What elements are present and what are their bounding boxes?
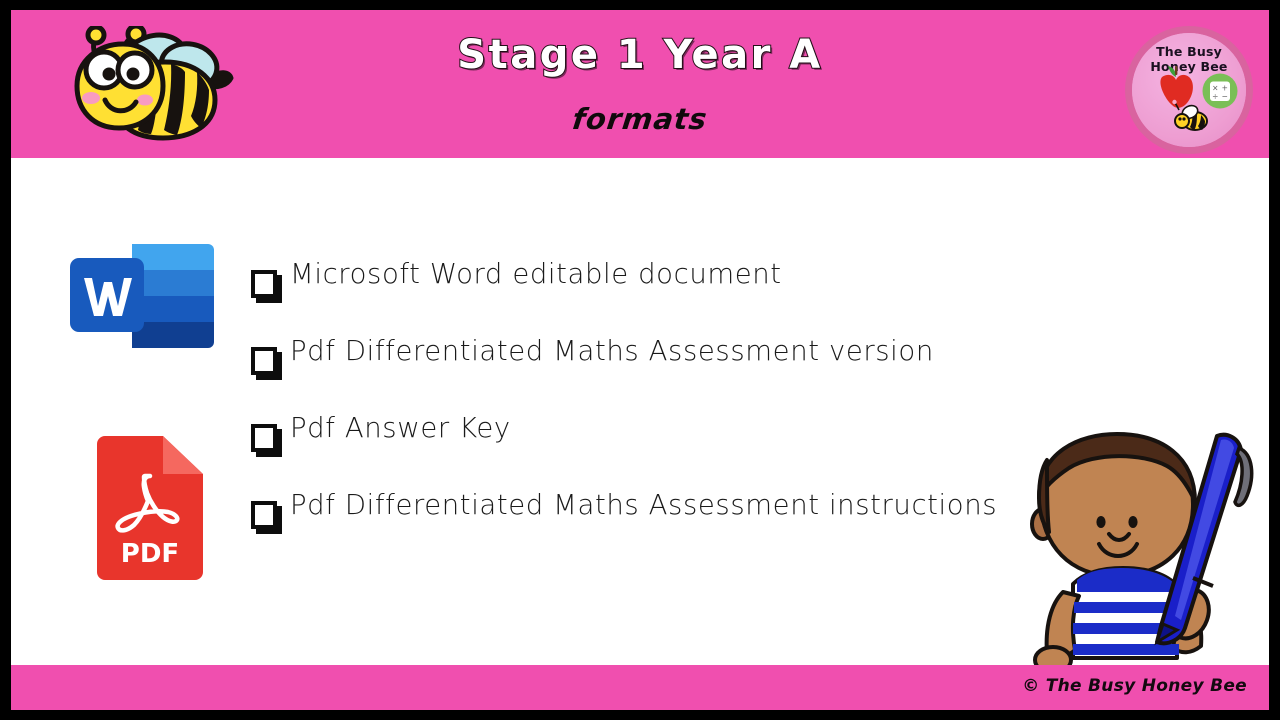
copyright-credit: © The Busy Honey Bee [1022,676,1247,696]
list-item-label: Pdf Differentiated Maths Assessment vers… [290,335,934,367]
list-item-label: Microsoft Word editable document [290,258,782,290]
list-item[interactable]: Pdf Differentiated Maths Assessment vers… [240,333,1040,410]
list-item-label: Pdf Differentiated Maths Assessment inst… [290,489,997,521]
calculator-icon: ×+ ÷− [1203,74,1238,109]
slide-canvas: Stage 1 Year A formats The Busy Honey Be… [11,10,1269,710]
svg-text:÷: ÷ [1212,92,1218,101]
apple-icon [1160,66,1193,108]
formats-checklist: Microsoft Word editable document Pdf Dif… [240,256,1040,564]
svg-text:−: − [1222,92,1228,101]
checkbox[interactable] [251,424,277,452]
checkbox[interactable] [251,501,277,529]
checkbox[interactable] [251,270,277,298]
list-item[interactable]: Pdf Differentiated Maths Assessment inst… [240,487,1040,564]
list-item-label: Pdf Answer Key [290,412,511,444]
header-banner: Stage 1 Year A formats The Busy Honey Be… [11,10,1269,158]
footer-banner: © The Busy Honey Bee [11,665,1269,710]
brand-badge[interactable]: The Busy Honey Bee ×+ [1125,26,1253,154]
page-subtitle: formats [11,102,1269,136]
pdf-file-icon: PDF [89,434,211,580]
list-item[interactable]: Microsoft Word editable document [240,256,1040,333]
microsoft-word-icon [66,238,216,358]
boy-with-pen-illustration [1017,428,1269,675]
checkbox[interactable] [251,347,277,375]
svg-text:PDF: PDF [121,539,179,569]
list-item[interactable]: Pdf Answer Key [240,410,1040,487]
page-title: Stage 1 Year A [11,32,1269,78]
slide-frame: Stage 1 Year A formats The Busy Honey Be… [0,0,1280,720]
